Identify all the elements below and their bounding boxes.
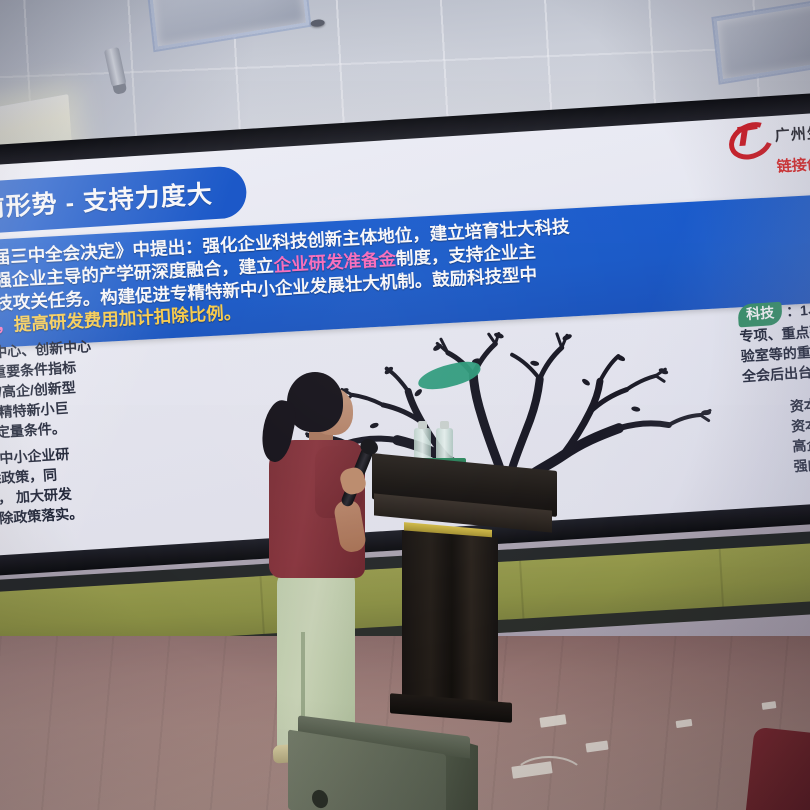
tech-tag-label: 科技 — [738, 302, 783, 328]
audience-chair-back — [746, 727, 810, 810]
green-leaf-accent-icon — [416, 358, 483, 393]
left-bottom-line-4: 所得税前加计扣除政策落实。 — [0, 504, 84, 535]
slide-column-right-bottom: 资本市场:科创板、北交所 资本市场均出台相应政策， 高企、专精特新小巨人资质 强… — [789, 387, 810, 477]
band-line-4-a: 大研发投入， — [0, 315, 15, 341]
slide-column-left-top: 项:1、 企业技术中心、创新中心 研发费投入纳入重要条件指标 质中小企业(科小/… — [0, 337, 97, 449]
water-bottle-2 — [436, 428, 453, 462]
left-top-line-5: 与认定的定性与定量条件。 — [0, 417, 97, 449]
logo-subtitle: 链接创新 — [776, 152, 810, 177]
stage-monitor-speaker — [288, 726, 478, 810]
slide-column-left-bottom: 务： 出台科技型中小企业研 100%" 加计扣除政策，同 申报和备案制度， 加大… — [0, 444, 84, 535]
slide-column-right-top: 科技：1、整个科技创新工作的 专项、重点研发计划，工程中 验室等的重要条件指标；… — [738, 291, 810, 387]
right-bottom-line-1: 资本市场:科创板、北交所 — [789, 387, 810, 417]
presenter-hair — [287, 372, 343, 432]
logo-name: 广州生 — [774, 121, 810, 145]
conference-photo-scene: 当前形势 - 支持力度大 广州生 链接创新 《党的二十届三中全会决定》中提出：强… — [0, 0, 810, 810]
organization-logo: 广州生 — [727, 119, 810, 151]
logo-emblem-icon — [727, 122, 769, 150]
floor-cable — [512, 756, 586, 800]
